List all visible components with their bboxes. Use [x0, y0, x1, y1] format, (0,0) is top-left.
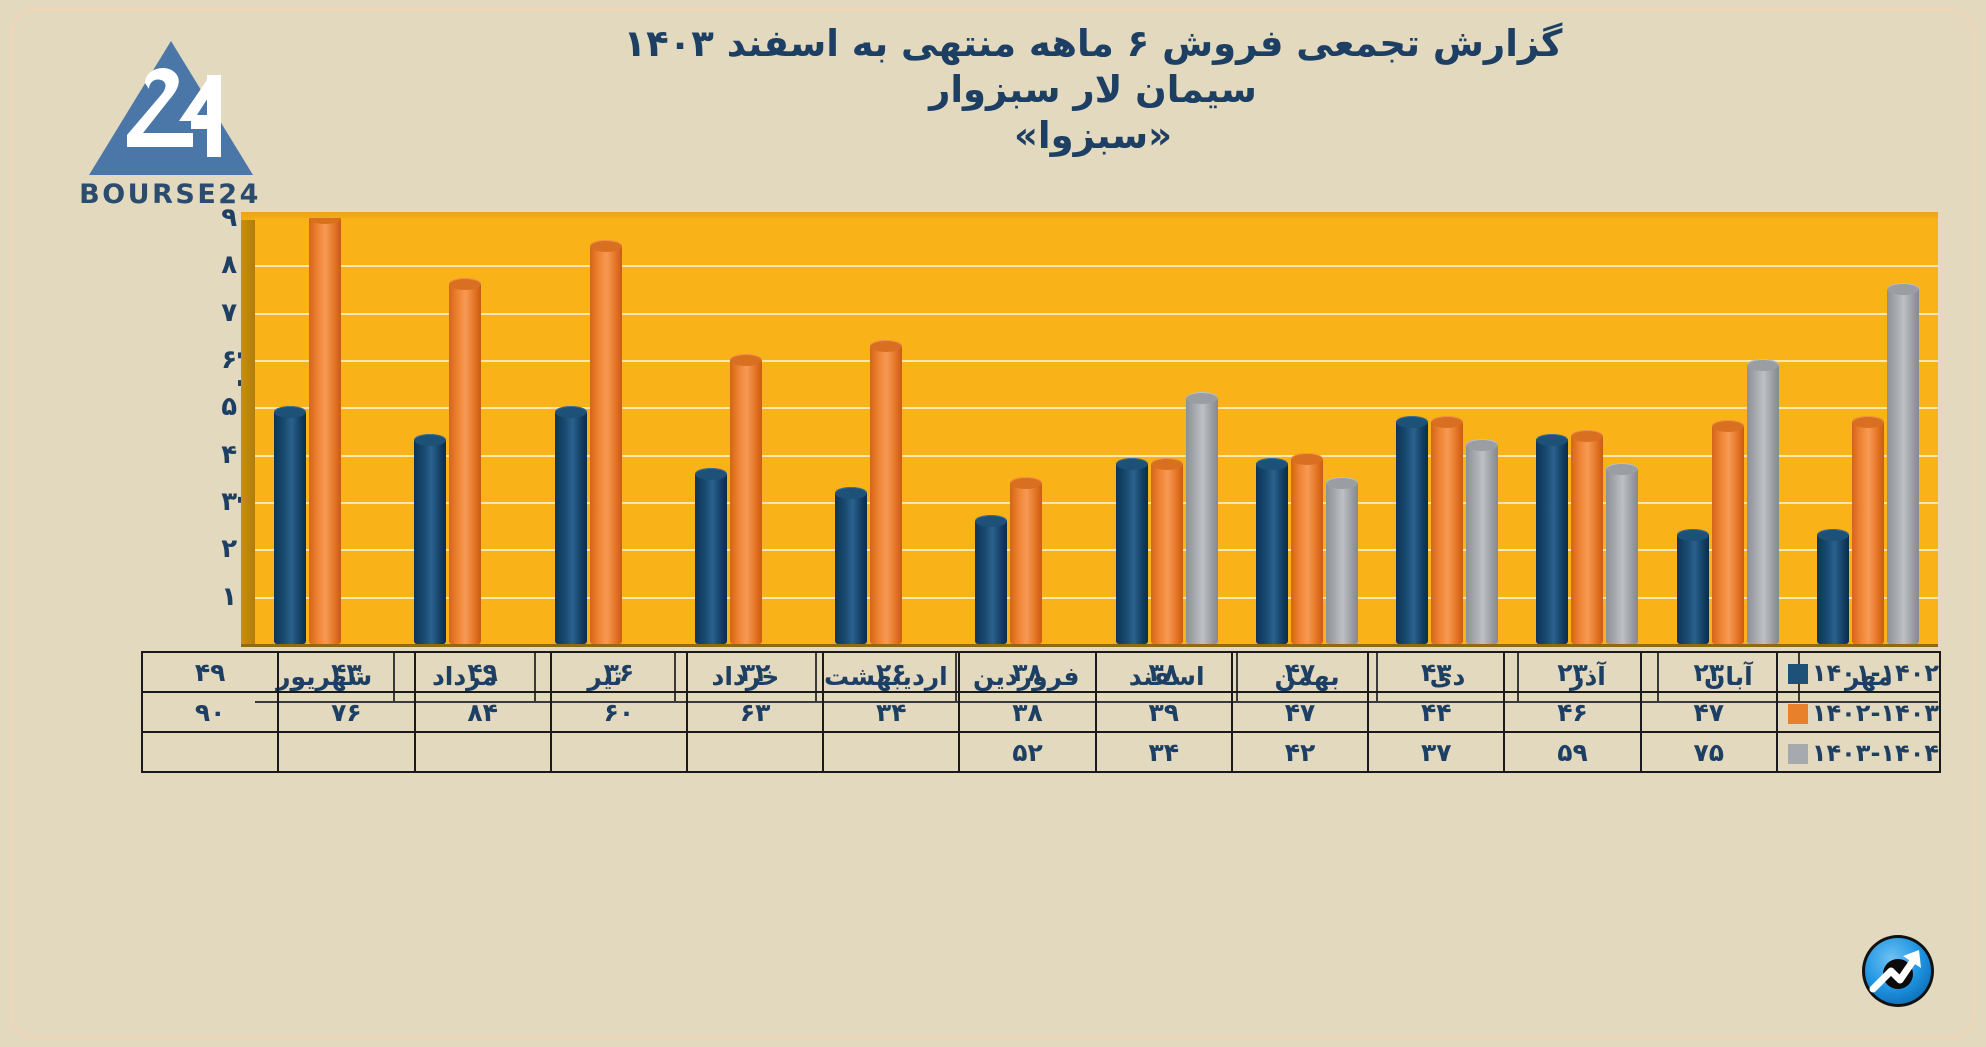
bar-cap — [1606, 463, 1638, 475]
bar-cap — [695, 468, 727, 480]
bar-cap — [1326, 477, 1358, 489]
table-cell: ۴۴ — [1368, 692, 1504, 732]
table-cell — [551, 732, 687, 772]
table-cell: ۴۷ — [1232, 692, 1368, 732]
table-cell: ۳۴ — [1096, 732, 1232, 772]
bar-cap — [414, 434, 446, 446]
trend-up-arrow-icon — [1861, 934, 1935, 1008]
bar-cap — [1536, 434, 1568, 446]
table-cell: ۳۸ — [1096, 652, 1232, 692]
bar-cap — [1291, 453, 1323, 465]
bar-cap — [975, 515, 1007, 527]
bar — [414, 440, 446, 644]
table-row: ۱۴۰۲-۱۴۰۳۴۷۴۶۴۴۴۷۳۹۳۸۳۴۶۳۶۰۸۴۷۶۹۰ — [142, 692, 1940, 732]
bar — [1536, 440, 1568, 644]
table-row: ۱۴۰۳-۱۴۰۴۷۵۵۹۳۷۴۲۳۴۵۲ — [142, 732, 1940, 772]
table-cell: ۳۹ — [1096, 692, 1232, 732]
table-cell: ۶۳ — [687, 692, 823, 732]
table-cell: ۷۵ — [1641, 732, 1777, 772]
bar — [555, 412, 587, 644]
bar — [1151, 464, 1183, 644]
bar — [274, 412, 306, 644]
bar — [1677, 535, 1709, 644]
bar-cap — [590, 240, 622, 252]
bar-cap — [1571, 430, 1603, 442]
table-cell: ۳۷ — [1368, 732, 1504, 772]
table-cell: ۸۴ — [415, 692, 551, 732]
bar — [1466, 445, 1498, 644]
bar — [1852, 422, 1884, 644]
bar-cap — [1116, 458, 1148, 470]
bar-cap — [835, 487, 867, 499]
bar — [309, 218, 341, 644]
table-cell: ۴۶ — [1504, 692, 1640, 732]
table-cell — [415, 732, 551, 772]
bar-group — [1658, 218, 1798, 644]
bar-group — [395, 218, 535, 644]
data-table: ۱۴۰۱-۱۴۰۲۲۳۲۳۴۳۴۷۳۸۳۸۲۶۳۲۳۶۴۹۴۳۴۹۱۴۰۲-۱۴… — [141, 651, 1941, 773]
bar-group — [1798, 218, 1938, 644]
bar-cap — [870, 340, 902, 352]
bar-group — [536, 218, 676, 644]
card-frame: BOURSE24 گزارش تجمعی فروش ۶ ماهه منتهی ب… — [10, 8, 1976, 1039]
legend-swatch — [1788, 664, 1808, 684]
table-cell: ۲۳ — [1641, 652, 1777, 692]
table-cell — [687, 732, 823, 772]
bar-group — [1377, 218, 1517, 644]
bar-group — [816, 218, 956, 644]
table-cell: ۹۰ — [142, 692, 278, 732]
plot-left-wall — [241, 212, 255, 644]
bar — [1712, 426, 1744, 644]
bar-cap — [1712, 420, 1744, 432]
table-cell: ۴۳ — [1368, 652, 1504, 692]
legend-label: ۱۴۰۱-۱۴۰۲ — [1812, 659, 1939, 687]
bar-cap — [1887, 283, 1919, 295]
table-cell: ۳۸ — [959, 692, 1095, 732]
bar — [870, 346, 902, 644]
bar — [1291, 459, 1323, 644]
plot-canvas — [255, 218, 1938, 644]
bar-group — [676, 218, 816, 644]
table-cell: ۵۹ — [1504, 732, 1640, 772]
bar — [835, 493, 867, 644]
x-axis-baseline — [241, 644, 1938, 647]
table-cell: ۴۹ — [415, 652, 551, 692]
data-table-body: ۱۴۰۱-۱۴۰۲۲۳۲۳۴۳۴۷۳۸۳۸۲۶۳۲۳۶۴۹۴۳۴۹۱۴۰۲-۱۴… — [142, 652, 1940, 772]
legend-swatch — [1788, 704, 1808, 724]
bar-cap — [1747, 359, 1779, 371]
bar-cap — [1817, 529, 1849, 541]
bar — [1817, 535, 1849, 644]
table-cell: ۲۶ — [823, 652, 959, 692]
legend-cell: ۱۴۰۱-۱۴۰۲ — [1777, 652, 1940, 692]
table-cell — [278, 732, 414, 772]
bar-cap — [309, 218, 341, 224]
table-cell: ۳۲ — [687, 652, 823, 692]
bar-cap — [555, 406, 587, 418]
bar-cap — [1186, 392, 1218, 404]
table-row: ۱۴۰۱-۱۴۰۲۲۳۲۳۴۳۴۷۳۸۳۸۲۶۳۲۳۶۴۹۴۳۴۹ — [142, 652, 1940, 692]
bar — [1431, 422, 1463, 644]
bar-cap — [1010, 477, 1042, 489]
table-cell: ۶۰ — [551, 692, 687, 732]
bar-cap — [1466, 439, 1498, 451]
bar-cap — [1151, 458, 1183, 470]
bar — [1747, 365, 1779, 644]
bar — [1256, 464, 1288, 644]
bar — [1396, 422, 1428, 644]
bar — [1606, 469, 1638, 644]
bar-cap — [1852, 416, 1884, 428]
bar — [1887, 289, 1919, 644]
bar — [695, 474, 727, 644]
table-cell: ۴۷ — [1641, 692, 1777, 732]
bar — [730, 360, 762, 644]
bar-cap — [1256, 458, 1288, 470]
bar-group — [956, 218, 1096, 644]
page-title: گزارش تجمعی فروش ۶ ماهه منتهی به اسفند ۱… — [313, 21, 1873, 159]
bar-cap — [1431, 416, 1463, 428]
bar — [590, 246, 622, 644]
bar — [449, 284, 481, 644]
table-cell: ۳۴ — [823, 692, 959, 732]
table-cell: ۴۲ — [1232, 732, 1368, 772]
title-line-2: سیمان لار سبزوار — [313, 67, 1873, 113]
table-cell: ۲۳ — [1504, 652, 1640, 692]
title-line-1: گزارش تجمعی فروش ۶ ماهه منتهی به اسفند ۱… — [313, 21, 1873, 67]
plot-area — [241, 212, 1938, 644]
bar-cap — [1677, 529, 1709, 541]
table-cell: ۳۸ — [959, 652, 1095, 692]
bar — [1326, 483, 1358, 644]
legend-cell: ۱۴۰۲-۱۴۰۳ — [1777, 692, 1940, 732]
table-cell: ۴۳ — [278, 652, 414, 692]
bourse24-triangle-logo-icon — [87, 37, 255, 177]
legend-cell: ۱۴۰۳-۱۴۰۴ — [1777, 732, 1940, 772]
bar-cap — [449, 278, 481, 290]
bar-cap — [1396, 416, 1428, 428]
bar — [975, 521, 1007, 644]
bar — [1186, 398, 1218, 644]
bar-group — [1097, 218, 1237, 644]
bar-cap — [730, 354, 762, 366]
table-cell: ۳۶ — [551, 652, 687, 692]
screenshot-root: BOURSE24 گزارش تجمعی فروش ۶ ماهه منتهی ب… — [0, 0, 1986, 1047]
bar-group — [1517, 218, 1657, 644]
brand-logo: BOURSE24 — [65, 37, 275, 222]
bar — [1571, 436, 1603, 644]
bar-groups — [255, 218, 1938, 644]
bar-group — [1237, 218, 1377, 644]
bar-group — [255, 218, 395, 644]
legend-swatch — [1788, 744, 1808, 764]
table-cell: ۴۹ — [142, 652, 278, 692]
legend-label: ۱۴۰۲-۱۴۰۳ — [1812, 699, 1939, 727]
legend-label: ۱۴۰۳-۱۴۰۴ — [1812, 739, 1939, 767]
bar-cap — [274, 406, 306, 418]
bar — [1116, 464, 1148, 644]
table-cell — [142, 732, 278, 772]
bar — [1010, 483, 1042, 644]
table-cell: ۴۷ — [1232, 652, 1368, 692]
table-cell — [823, 732, 959, 772]
table-cell: ۷۶ — [278, 692, 414, 732]
title-line-3: «سبزوا» — [313, 113, 1873, 159]
table-cell: ۵۲ — [959, 732, 1095, 772]
